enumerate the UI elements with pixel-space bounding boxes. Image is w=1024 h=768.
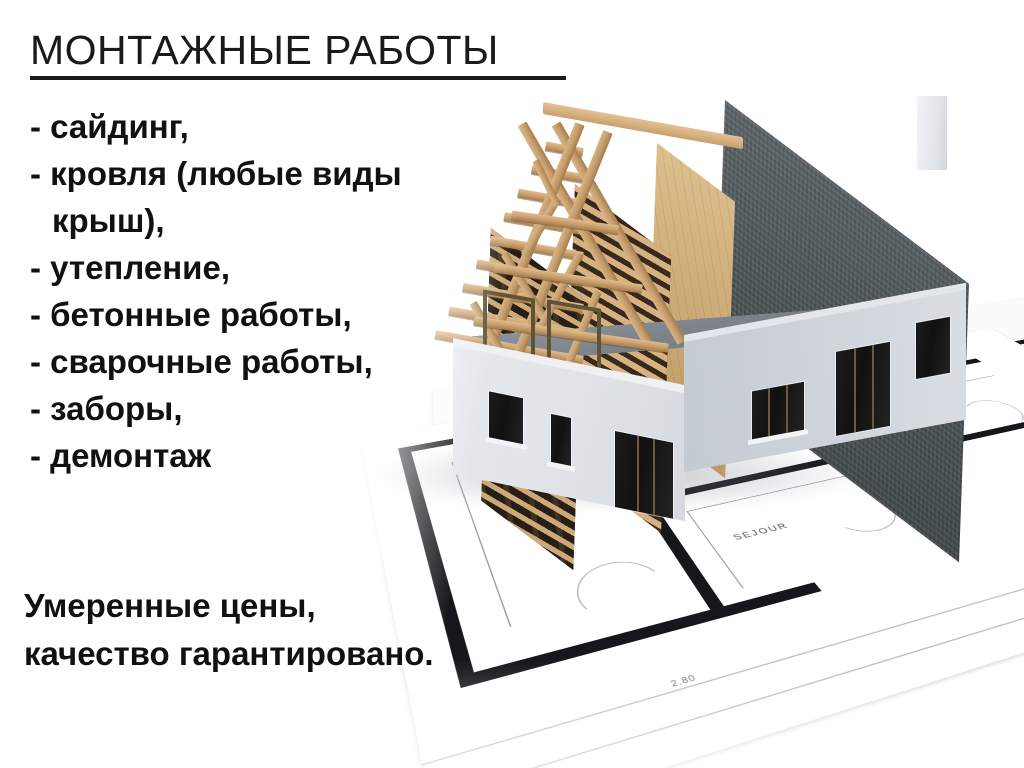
list-item-continuation: крыш), xyxy=(30,197,490,244)
list-item: - кровля (любые виды xyxy=(30,150,490,197)
list-item: - заборы, xyxy=(30,385,490,432)
tagline-block: Умеренные цены, качество гарантировано. xyxy=(24,582,544,678)
door-mullion xyxy=(637,435,639,511)
window-opening xyxy=(489,391,523,444)
list-item: - сайдинг, xyxy=(30,103,490,150)
house-model xyxy=(425,88,1024,518)
blueprint-room-label: SEJOUR xyxy=(731,522,790,542)
chimney xyxy=(917,96,947,170)
list-item: - демонтаж xyxy=(30,432,490,479)
list-item: - сварочные работы, xyxy=(30,338,490,385)
title-underline xyxy=(30,76,566,80)
window-opening xyxy=(916,317,950,379)
tagline-line: Умеренные цены, xyxy=(24,582,544,630)
window-mullion xyxy=(768,388,770,436)
door-opening xyxy=(615,431,673,519)
window-mullion xyxy=(786,385,788,433)
door-mullion xyxy=(854,348,856,432)
door-mullion xyxy=(653,439,655,515)
tagline-line: качество гарантировано. xyxy=(24,630,544,678)
list-item: - бетонные работы, xyxy=(30,291,490,338)
list-item: - утепление, xyxy=(30,244,490,291)
services-list: - сайдинг, - кровля (любые виды крыш), -… xyxy=(30,103,490,479)
door-opening xyxy=(836,342,890,436)
window-opening xyxy=(551,414,571,466)
door-mullion xyxy=(872,345,874,429)
blueprint-door-swing-icon xyxy=(571,560,669,622)
page-title: МОНТАЖНЫЕ РАБОТЫ xyxy=(30,27,499,74)
poster-canvas: CHAMBRE CHAMBRE 3.00 SEJOUR xyxy=(0,0,1024,768)
